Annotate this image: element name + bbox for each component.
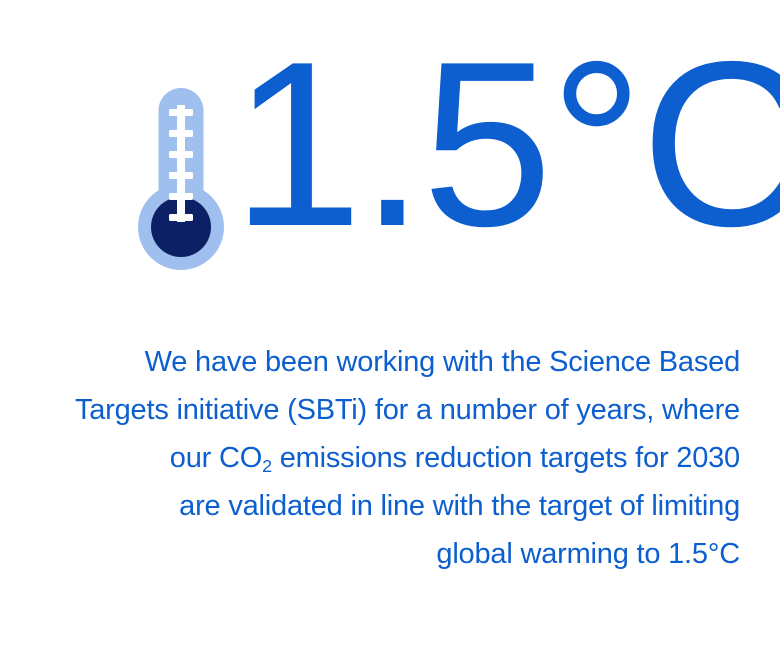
body-line-co2: our CO2 emissions reduction targets for … [0, 434, 740, 482]
body-line: We have been working with the Science Ba… [0, 338, 740, 386]
thermometer-icon [136, 88, 226, 270]
body-line: are validated in line with the target of… [0, 482, 740, 530]
hero-section: 1.5°C [0, 48, 780, 278]
body-line-co2-prefix: our CO [170, 442, 262, 474]
body-line: Targets initiative (SBTi) for a number o… [0, 386, 740, 434]
climate-target-card: 1.5°C We have been working with the Scie… [0, 0, 780, 648]
body-paragraph: We have been working with the Science Ba… [0, 338, 760, 578]
temperature-value: 1.5°C [232, 36, 780, 252]
co2-subscript: 2 [262, 456, 272, 476]
body-line-co2-suffix: emissions reduction targets for 2030 [272, 442, 740, 474]
body-line: global warming to 1.5°C [0, 530, 740, 578]
